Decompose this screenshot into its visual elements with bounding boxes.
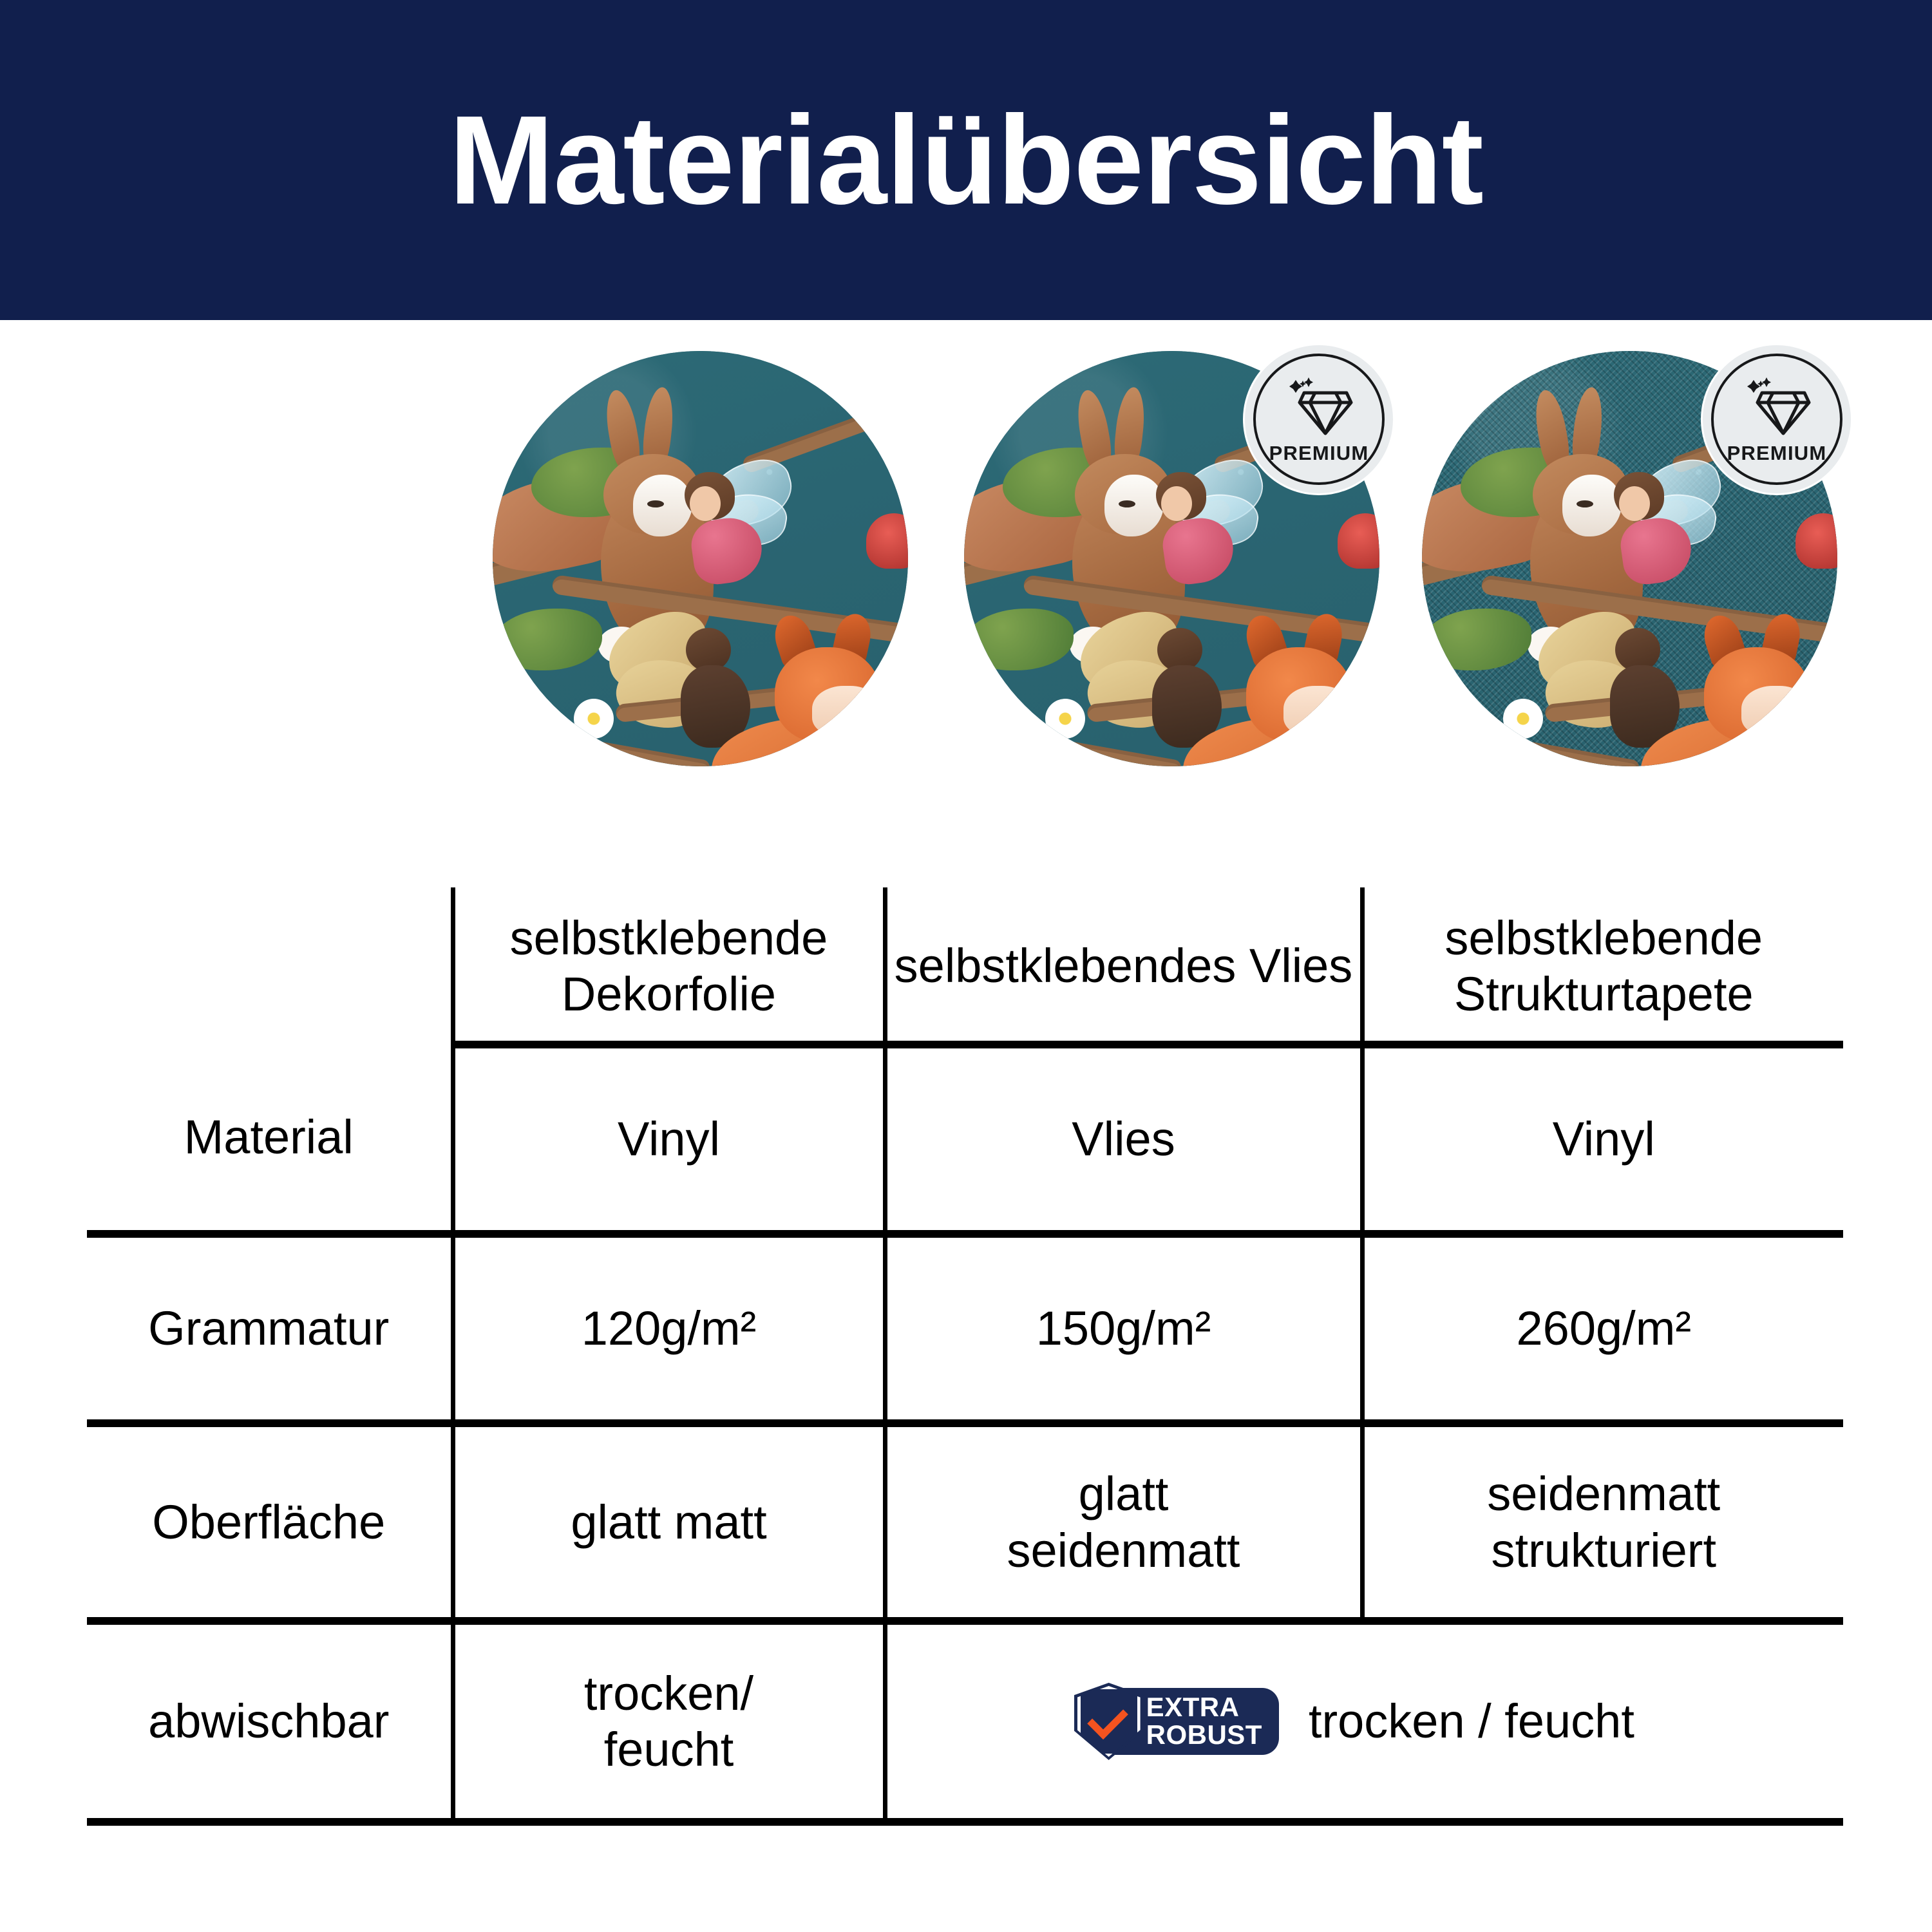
cell-grammatur-dekorfolie: 120g/m² bbox=[453, 1234, 885, 1423]
swatch-circle bbox=[493, 351, 908, 766]
product-swatch-strukturtapete[interactable]: PREMIUM bbox=[1422, 351, 1837, 766]
table-row-abwischbar: abwischbar trocken/ feucht bbox=[87, 1621, 1843, 1822]
shield-check-icon bbox=[1074, 1683, 1144, 1760]
fairy-face-shape bbox=[690, 486, 721, 521]
table-row-material: Material Vinyl Vlies Vinyl bbox=[87, 1045, 1843, 1234]
cell-grammatur-strukturtapete: 260g/m² bbox=[1362, 1234, 1843, 1423]
cell-oberflaeche-vlies: glatt seidenmatt bbox=[885, 1423, 1362, 1621]
page-title: Materialübersicht bbox=[449, 97, 1483, 223]
table-row-grammatur: Grammatur 120g/m² 150g/m² 260g/m² bbox=[87, 1234, 1843, 1423]
product-swatch-row: PREMIUM bbox=[0, 351, 1932, 776]
checkmark-icon bbox=[1087, 1698, 1128, 1739]
column-header-dekorfolie: selbstklebende Dekorfolie bbox=[453, 887, 885, 1045]
fairy-forest-illustration bbox=[493, 351, 908, 766]
premium-badge: PREMIUM bbox=[1701, 343, 1853, 495]
cell-material-strukturtapete: Vinyl bbox=[1362, 1045, 1843, 1234]
diamond-icon bbox=[1742, 375, 1812, 440]
header-banner: Materialübersicht bbox=[0, 0, 1932, 320]
lantern-shape bbox=[1440, 351, 1486, 405]
lantern-shape bbox=[511, 351, 557, 405]
rabbit-eye-shape bbox=[647, 500, 664, 507]
product-swatch-dekorfolie[interactable] bbox=[493, 351, 908, 766]
extra-robust-line1: EXTRA bbox=[1146, 1694, 1240, 1721]
fairy-face-shape bbox=[1161, 486, 1192, 521]
header-corner-cell bbox=[87, 887, 453, 1045]
cell-material-dekorfolie: Vinyl bbox=[453, 1045, 885, 1234]
premium-badge-inner: PREMIUM bbox=[1711, 354, 1842, 485]
premium-badge-label: PREMIUM bbox=[1727, 443, 1827, 463]
extra-robust-line2: ROBUST bbox=[1146, 1721, 1262, 1749]
table-header-row: selbstklebende Dekorfolie selbstklebende… bbox=[87, 887, 1843, 1045]
row-label-material: Material bbox=[87, 1045, 453, 1234]
fairy-face-shape bbox=[1619, 486, 1650, 521]
cell-abwischbar-value: trocken / feucht bbox=[1309, 1693, 1634, 1749]
cell-oberflaeche-strukturtapete: seidenmatt strukturiert bbox=[1362, 1423, 1843, 1621]
extra-robust-badge: EXTRA ROBUST bbox=[1096, 1688, 1279, 1755]
premium-badge-inner: PREMIUM bbox=[1253, 354, 1385, 485]
product-swatch-vlies[interactable]: PREMIUM bbox=[964, 351, 1379, 766]
material-comparison-table: selbstklebende Dekorfolie selbstklebende… bbox=[87, 887, 1843, 1821]
cell-material-vlies: Vlies bbox=[885, 1045, 1362, 1234]
flower-shape bbox=[1503, 699, 1543, 739]
row-label-abwischbar: abwischbar bbox=[87, 1621, 453, 1822]
cell-abwischbar-vlies-strukturtapete: EXTRA ROBUST trocken / feucht bbox=[885, 1621, 1843, 1822]
shield-inner bbox=[1077, 1686, 1141, 1757]
rabbit-eye-shape bbox=[1577, 500, 1593, 507]
diamond-icon bbox=[1284, 375, 1354, 440]
cell-grammatur-vlies: 150g/m² bbox=[885, 1234, 1362, 1423]
rabbit-eye-shape bbox=[1119, 500, 1135, 507]
row-label-oberflaeche: Oberfläche bbox=[87, 1423, 453, 1621]
premium-badge: PREMIUM bbox=[1243, 343, 1395, 495]
material-overview-page: Materialübersicht bbox=[0, 0, 1932, 1932]
extra-robust-text: EXTRA ROBUST bbox=[1146, 1694, 1262, 1749]
cell-oberflaeche-dekorfolie: glatt matt bbox=[453, 1423, 885, 1621]
table-row-oberflaeche: Oberfläche glatt matt glatt seidenmatt s… bbox=[87, 1423, 1843, 1621]
lantern-shape bbox=[982, 351, 1028, 405]
flower-shape bbox=[1045, 699, 1085, 739]
premium-badge-label: PREMIUM bbox=[1269, 443, 1369, 463]
column-header-strukturtapete: selbstklebende Strukturtapete bbox=[1362, 887, 1843, 1045]
column-header-vlies: selbstklebendes Vlies bbox=[885, 887, 1362, 1045]
flower-shape bbox=[574, 699, 614, 739]
row-label-grammatur: Grammatur bbox=[87, 1234, 453, 1423]
cell-abwischbar-dekorfolie: trocken/ feucht bbox=[453, 1621, 885, 1822]
